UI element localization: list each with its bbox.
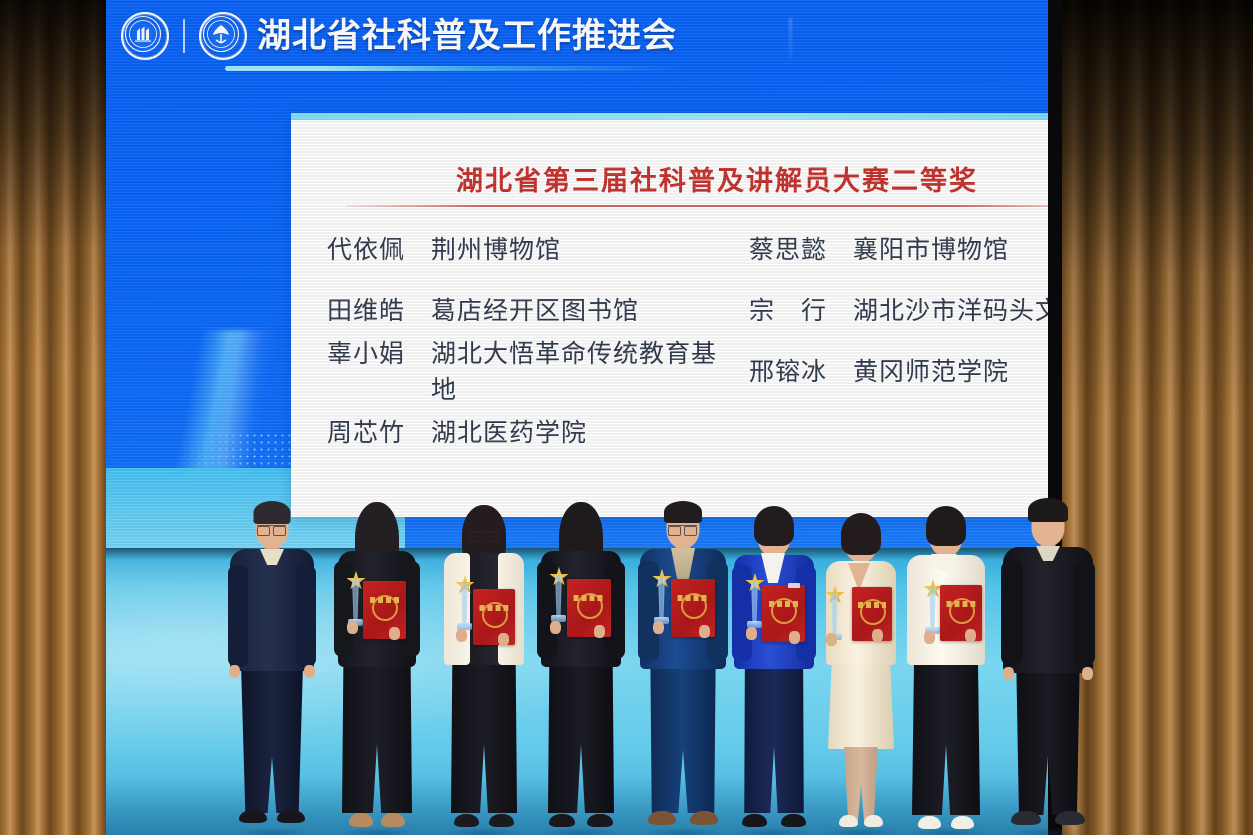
- hand-right: [594, 625, 605, 638]
- award-row: 田维皓 葛店经开区图书馆 宗 行 湖北沙市洋码头文创园: [291, 278, 1065, 339]
- winner-organization: 襄阳市博物馆: [853, 230, 1009, 266]
- award-row: 周芯竹 湖北医药学院: [291, 400, 1065, 461]
- hubei-university-emblem: [121, 12, 169, 60]
- person-shadow: [822, 827, 900, 835]
- person-shadow: [233, 827, 311, 835]
- led-artifact-streak: [789, 18, 792, 60]
- person-awardee-3: [536, 505, 626, 835]
- certificate-gold-seal: [577, 593, 603, 619]
- trophy-body: [826, 593, 843, 635]
- winner-organization: 湖北大悟革命传统教育基地: [431, 334, 721, 406]
- crystal-trophy: [347, 579, 364, 627]
- stage-curtain-left: [0, 0, 106, 835]
- person-awardee-6: [820, 515, 902, 835]
- legs-black-trousers: [912, 659, 980, 815]
- award-entry: 代依佩 荆州博物馆: [291, 230, 721, 266]
- winner-name: 辜小娟: [327, 334, 431, 370]
- hair: [754, 506, 794, 546]
- award-winner-list: 代依佩 荆州博物馆 蔡思懿 襄阳市博物馆 田维皓 葛店经开区图书馆 宗 行: [291, 217, 1065, 461]
- person-shadow: [735, 827, 813, 835]
- hair: [254, 501, 291, 524]
- certificate-gold-seal: [949, 598, 975, 624]
- trophy-body: [550, 575, 567, 617]
- shoe-left: [349, 813, 373, 827]
- shoe-left: [839, 815, 858, 827]
- shoe-left: [742, 814, 767, 827]
- shoe-right: [864, 815, 883, 827]
- curtain-fabric: [0, 0, 106, 835]
- crystal-trophy: [550, 575, 567, 623]
- hand-right: [965, 629, 976, 642]
- award-entry: 周芯竹 湖北医药学院: [291, 413, 721, 449]
- hand-left: [456, 629, 467, 642]
- stage-curtain-right: [1062, 0, 1253, 835]
- hand-left: [746, 627, 757, 640]
- eyeglasses: [257, 525, 286, 534]
- hand-right: [872, 629, 883, 642]
- arm-right: [1073, 561, 1095, 665]
- winner-organization: 葛店经开区图书馆: [431, 291, 639, 327]
- hand-left: [229, 665, 240, 678]
- hand-right: [304, 665, 315, 678]
- person-awardee-7: [903, 509, 989, 835]
- certificate-gold-seal: [860, 599, 886, 625]
- hair: [664, 501, 702, 523]
- shoe-right: [587, 814, 613, 827]
- legs-wide-trousers: [451, 661, 517, 813]
- trophy-body: [653, 577, 670, 619]
- arm-right: [296, 565, 316, 667]
- winner-name: 蔡思懿: [749, 230, 853, 266]
- shoe-left: [648, 811, 676, 825]
- award-entry: 辜小娟 湖北大悟革命传统教育基地: [291, 334, 721, 406]
- slide-title: 湖北省第三届社科普及讲解员大赛二等奖: [291, 159, 1065, 198]
- shoe-left: [239, 810, 267, 823]
- stage-award-ceremony-photo: 湖北省社科普及工作推进会 湖北省第三届社科普及讲解员大赛二等奖 代依佩 荆州博物…: [0, 0, 1253, 835]
- person-shadow: [1009, 827, 1087, 835]
- banner-header: 湖北省社科普及工作推进会: [105, 0, 1065, 86]
- winner-name: 田维皓: [327, 291, 431, 327]
- name-badge-pin: [788, 583, 800, 588]
- person-awardee-2: [440, 507, 528, 835]
- legs-trousers: [241, 665, 303, 813]
- hand-right: [789, 631, 800, 644]
- shoe-right: [277, 810, 305, 823]
- shoe-right: [1055, 811, 1085, 825]
- hand-right: [389, 627, 400, 640]
- person-shadow: [445, 827, 523, 835]
- legs-navy-trousers: [743, 663, 805, 813]
- cream-skirt: [828, 657, 894, 749]
- winner-organization: 荆州博物馆: [431, 230, 561, 266]
- hand-left: [924, 631, 935, 644]
- eyeglasses: [668, 525, 697, 534]
- emblem-divider: [183, 19, 185, 53]
- led-backdrop-screen: 湖北省社科普及工作推进会 湖北省第三届社科普及讲解员大赛二等奖 代依佩 荆州博物…: [105, 0, 1065, 548]
- crystal-trophy: [746, 581, 763, 629]
- panel-top-accent-bar: [291, 113, 1065, 120]
- person-shadow: [644, 827, 722, 835]
- crystal-trophy: [924, 587, 941, 635]
- shoe-right: [690, 811, 718, 825]
- winner-organization: 黄冈师范学院: [853, 352, 1009, 388]
- shoe-right: [951, 816, 974, 829]
- winner-name: 宗 行: [749, 291, 853, 327]
- person-shadow: [542, 827, 620, 835]
- shoe-left: [918, 816, 941, 829]
- slide-title-divider: [346, 205, 1065, 207]
- curtain-fabric: [1062, 0, 1253, 835]
- person-awardee-4: [637, 505, 729, 835]
- winner-name: 邢镕冰: [749, 352, 853, 388]
- hair: [841, 513, 881, 555]
- hand-left: [653, 621, 664, 634]
- shoe-left: [454, 814, 479, 827]
- legs-trousers: [548, 661, 614, 813]
- person-presenter-left: [226, 505, 318, 835]
- hand-left: [347, 621, 358, 634]
- shoe-right: [381, 813, 405, 827]
- trophy-body: [746, 581, 763, 623]
- shoe-right: [781, 814, 806, 827]
- person-awardee-5: [731, 509, 817, 835]
- hair: [926, 506, 966, 546]
- hand-left: [550, 621, 561, 634]
- winner-organization: 湖北医药学院: [431, 413, 587, 449]
- hand-left: [1003, 667, 1014, 680]
- trophy-body: [924, 587, 941, 629]
- award-entry: 邢镕冰 黄冈师范学院: [721, 352, 1065, 388]
- certificate-gold-seal: [372, 595, 398, 621]
- crystal-trophy: [653, 577, 670, 625]
- person-shadow: [907, 827, 985, 835]
- shoe-right: [489, 814, 514, 827]
- legs-wide-trousers: [342, 661, 412, 813]
- banner-underline-accent: [225, 66, 680, 71]
- winner-organization: 湖北沙市洋码头文创园: [853, 291, 1065, 327]
- banner-title: 湖北省社科普及工作推进会: [257, 14, 677, 58]
- certificate-gold-seal: [681, 593, 707, 619]
- legs-suit-trousers: [649, 663, 717, 813]
- certificate-gold-seal: [482, 602, 508, 628]
- award-row: 代依佩 荆州博物馆 蔡思懿 襄阳市博物馆: [291, 217, 1065, 278]
- award-entry: 宗 行 湖北沙市洋码头文创园: [721, 291, 1065, 327]
- hair: [1028, 498, 1068, 522]
- shoe-left: [1011, 811, 1041, 825]
- hand-left: [826, 633, 837, 646]
- award-entry: 田维皓 葛店经开区图书馆: [291, 291, 721, 327]
- social-science-association-emblem: [199, 12, 247, 60]
- legs-bare: [842, 747, 880, 821]
- person-awardee-1: [333, 505, 421, 835]
- award-entry: 蔡思懿 襄阳市博物馆: [721, 230, 1065, 266]
- hand-right: [699, 625, 710, 638]
- winner-name: 周芯竹: [327, 413, 431, 449]
- award-row: 辜小娟 湖北大悟革命传统教育基地 邢镕冰 黄冈师范学院: [291, 339, 1065, 400]
- person-shadow: [338, 827, 416, 835]
- shoe-left: [549, 814, 575, 827]
- certificate-gold-seal: [771, 598, 797, 624]
- trophy-body: [456, 583, 473, 625]
- hand-right: [498, 633, 509, 646]
- trophy-body: [347, 579, 364, 621]
- hand-right: [1082, 667, 1093, 680]
- arm-left: [1001, 561, 1023, 665]
- crystal-trophy: [456, 583, 473, 631]
- arm-left: [228, 565, 248, 667]
- winner-name: 代依佩: [327, 230, 431, 266]
- slide-content-panel: 湖北省第三届社科普及讲解员大赛二等奖 代依佩 荆州博物馆 蔡思懿 襄阳市博物馆 …: [291, 113, 1065, 517]
- eyeglasses: [469, 531, 498, 540]
